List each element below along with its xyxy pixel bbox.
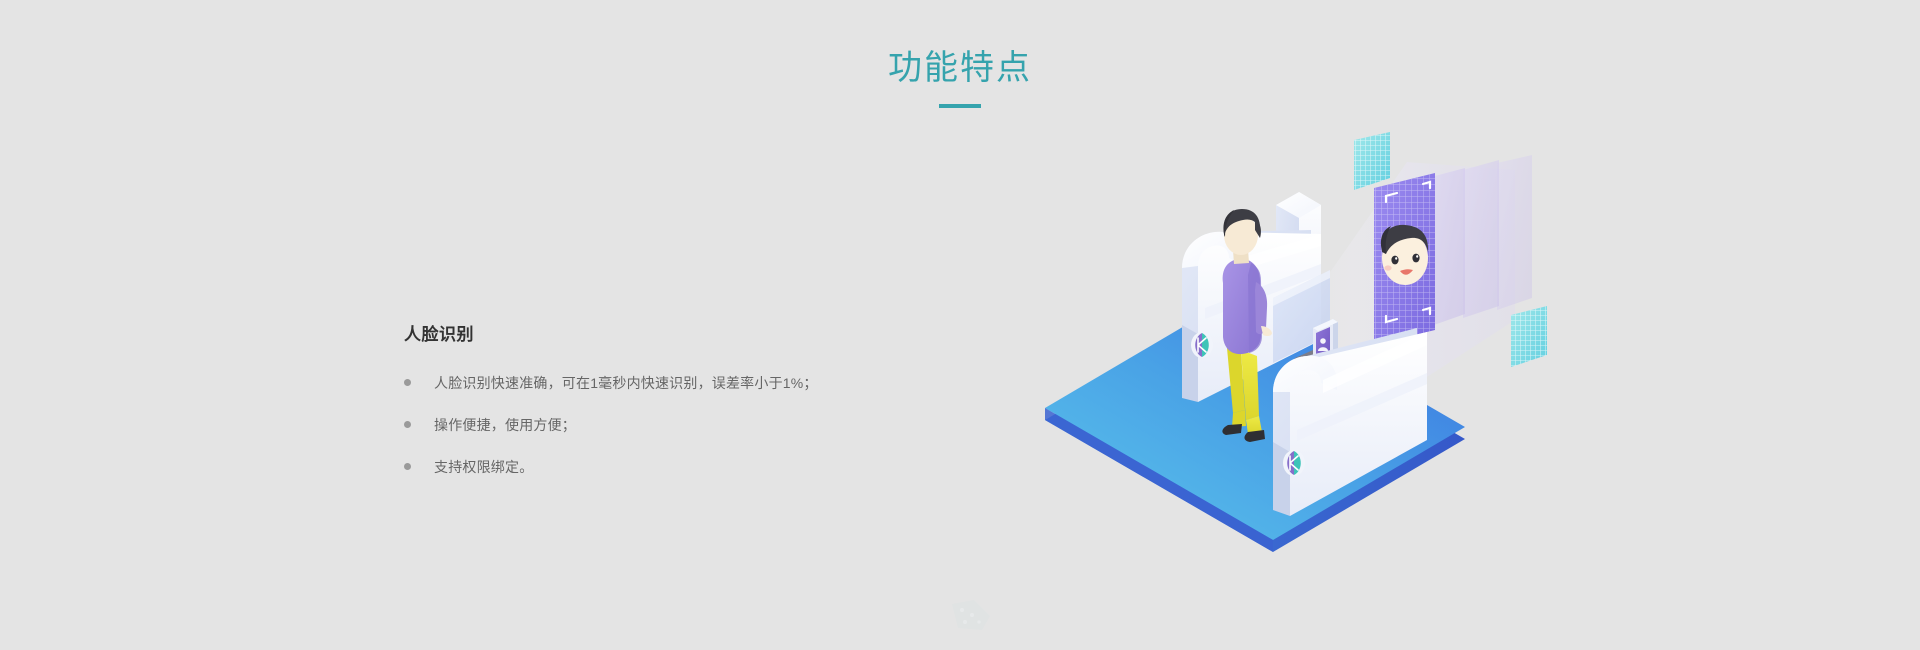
title-underline-rule xyxy=(939,104,981,108)
list-item-label: 操作便捷，使用方便； xyxy=(434,415,576,435)
bullet-dot-icon xyxy=(404,463,411,470)
gate-logo-badge-icon xyxy=(1283,450,1305,476)
feature-block: 人脸识别 人脸识别快速准确，可在1毫秒内快速识别，误差率小于1%； 操作便捷，使… xyxy=(404,320,924,477)
list-item: 支持权限绑定。 xyxy=(404,457,924,477)
halo-panels xyxy=(1431,155,1532,326)
list-item: 人脸识别快速准确，可在1毫秒内快速识别，误差率小于1%； xyxy=(404,373,924,393)
face-scan-panel xyxy=(1374,173,1435,345)
page-title: 功能特点 xyxy=(0,46,1920,90)
face-recognition-illustration xyxy=(1045,130,1565,560)
list-item-label: 支持权限绑定。 xyxy=(434,457,533,477)
feature-list: 人脸识别快速准确，可在1毫秒内快速识别，误差率小于1%； 操作便捷，使用方便； … xyxy=(404,373,924,477)
list-item-label: 人脸识别快速准确，可在1毫秒内快速识别，误差率小于1%； xyxy=(434,373,818,393)
bullet-dot-icon xyxy=(404,421,411,428)
bullet-dot-icon xyxy=(404,379,411,386)
cyan-grid-tile-icon xyxy=(1511,306,1547,367)
avatar-face-icon xyxy=(1381,225,1428,285)
gate-logo-badge-icon xyxy=(1191,332,1213,358)
section-header: 功能特点 xyxy=(0,46,1920,108)
watermark xyxy=(948,598,1008,632)
feature-heading: 人脸识别 xyxy=(404,320,924,345)
cyan-grid-tile-icon xyxy=(1354,132,1390,190)
list-item: 操作便捷，使用方便； xyxy=(404,415,924,435)
page-root: 功能特点 人脸识别 人脸识别快速准确，可在1毫秒内快速识别，误差率小于1%； 操… xyxy=(0,0,1920,650)
